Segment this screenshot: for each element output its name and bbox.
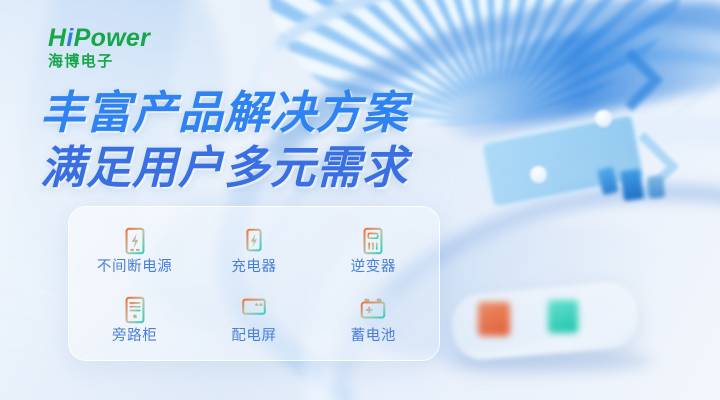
product-item-distribution-panel[interactable]: 配电屏 [194,285,313,355]
charger-icon [239,226,269,256]
product-category-card: 不间断电源 充电器 逆变器 [68,206,440,361]
headline-line-1: 丰富产品解决方案 [40,86,408,141]
product-label: 配电屏 [231,329,276,344]
product-label: 蓄电池 [351,329,396,344]
headline-line-2: 满足用户多元需求 [40,141,408,196]
product-label: 逆变器 [351,260,396,275]
product-item-battery[interactable]: 蓄电池 [314,285,433,355]
brand-logo: HiPower 海博电子 [48,26,150,69]
brand-logo-wordmark: HiPower [48,26,150,51]
brand-logo-chinese-name: 海博电子 [48,54,150,69]
product-label: 充电器 [231,260,276,275]
bypass-cabinet-icon [120,295,150,325]
brand-logo-prefix: H [48,24,66,52]
product-label: 旁路柜 [112,329,157,344]
ups-icon [120,226,150,256]
product-item-charger[interactable]: 充电器 [194,215,313,285]
inverter-icon [358,226,388,256]
product-item-ups[interactable]: 不间断电源 [75,215,194,285]
brand-logo-suffix: Power [74,24,151,52]
headline-block: 丰富产品解决方案 满足用户多元需求 [40,86,408,196]
distribution-panel-icon [239,295,269,325]
battery-icon [358,295,388,325]
product-label: 不间断电源 [97,260,173,275]
product-item-bypass-cabinet[interactable]: 旁路柜 [75,285,194,355]
banner-stage: HiPower 海博电子 丰富产品解决方案 满足用户多元需求 不间断电源 [0,0,720,400]
brand-logo-i-letter: i [66,24,73,52]
product-item-inverter[interactable]: 逆变器 [314,215,433,285]
